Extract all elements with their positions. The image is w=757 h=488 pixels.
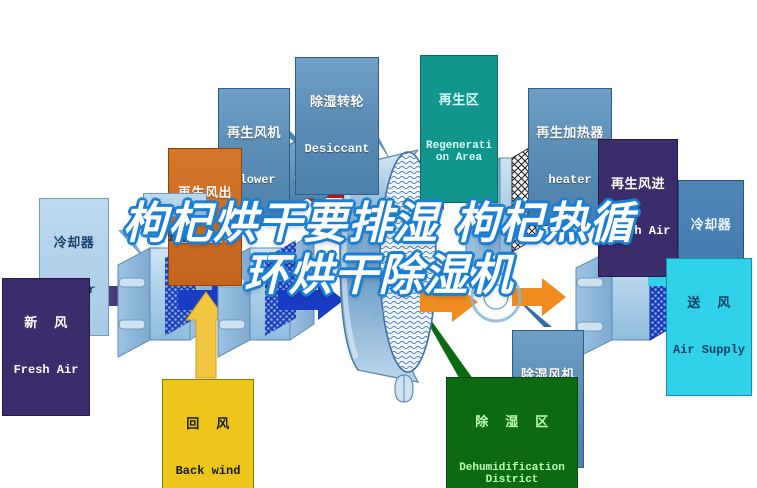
label-regeneration-area: 再生区 Regenerati on Area <box>420 55 498 203</box>
label-air-supply: 送 风 Air Supply <box>666 258 752 396</box>
label-cooler-left-b: 冷却器 <box>143 193 207 217</box>
svg-text:XT: XT <box>372 309 386 321</box>
label-regeneration-fresh-air: 再生风进 Fresh Air <box>598 139 678 277</box>
label-fresh-air-inlet: 新 风 Fresh Air <box>2 278 90 416</box>
label-desiccant-rotor: 除湿转轮 Desiccant <box>295 57 379 195</box>
diagram-canvas: XT <box>0 0 757 488</box>
rotor-drive-belt <box>395 375 413 402</box>
label-dehumidification-district: 除 湿 区 Dehumidification District <box>446 377 578 488</box>
label-back-wind: 回 风 Back wind <box>162 379 254 488</box>
